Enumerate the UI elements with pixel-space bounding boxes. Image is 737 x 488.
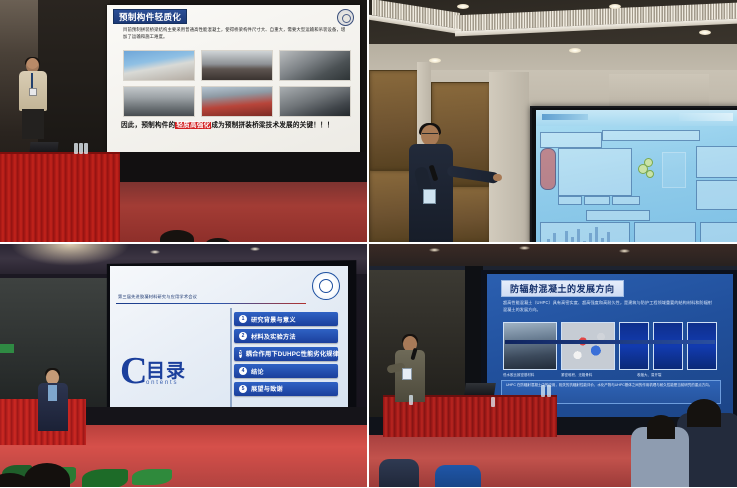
collage-panel-bottom-right: 防辐射混凝土的发展方向 超高性能混凝土（UHPC）具有高密实度、超高强度和高耐久… [369, 244, 737, 487]
slide-header-label [542, 114, 588, 120]
audience-head [687, 399, 721, 427]
speaker-figure [18, 58, 48, 136]
raw-material-source [540, 148, 556, 190]
slide-conclusion-text: 因此，预制构件的轻质高强化成为预制拼装桥梁技术发展的关键！！！ [121, 121, 353, 131]
university-logo [679, 113, 733, 121]
downlight-icon [250, 247, 260, 251]
item-label: 研究背景与意义 [251, 315, 296, 324]
photo-launching-gantry [123, 86, 195, 117]
water-bottle [409, 395, 413, 405]
collage-panel-top-right [369, 0, 737, 242]
list-item: 4 结论 [234, 364, 338, 378]
speaker-figure [391, 336, 437, 402]
collage-panel-bottom-left: 第三届先进胶凝材料研究与应用学术会议 C 目录 ontents 1 研究背景与意… [0, 244, 367, 487]
diagram-label [558, 196, 582, 205]
downlight-icon [457, 4, 469, 9]
photo-bridge-segment-lifting [279, 86, 351, 117]
audience-chair [379, 459, 419, 487]
contents-big-letter: C [120, 354, 147, 388]
item-label: 材料及实验方法 [251, 332, 296, 341]
glasses-icon [422, 133, 438, 137]
contents-list: 1 研究背景与意义 2 材料及实验方法 3 耦合作用下DUHPC性能劣化规律 4… [234, 312, 338, 399]
item-number: 3 [239, 350, 242, 358]
slide-title-bar: 防辐射混凝土的发展方向 [501, 280, 624, 297]
exit-sign-icon [0, 344, 14, 353]
university-seal-icon [337, 9, 354, 26]
downlight-icon [519, 246, 530, 250]
photo-crawler-crane-erection [201, 86, 273, 117]
photo-bridge-girder-transport [123, 50, 195, 81]
speaker-badge [29, 88, 37, 96]
image-ct-scan-3-days [653, 322, 683, 370]
diagram-label [584, 196, 610, 205]
item-label: 耦合作用下DUHPC性能劣化规律 [246, 349, 339, 358]
list-item: 2 材料及实验方法 [234, 329, 338, 343]
speaker-figure [405, 125, 497, 242]
stage-backdrop [110, 152, 367, 182]
molecular-structure-block [558, 148, 632, 196]
caption: 收缩大、易开裂 [637, 372, 697, 377]
water-bottle [491, 397, 495, 407]
speaker-lanyard [31, 73, 33, 89]
list-item: 5 展望与致谢 [234, 382, 338, 396]
schematic-block [662, 152, 686, 188]
speaker-shirt [48, 385, 57, 401]
item-number: 2 [239, 332, 247, 340]
note-text: UHPC 在防辐射混凝土中的应用，相关的抗辐射性能评价、水化产物与UHPC基体之… [506, 383, 716, 389]
downlight-icon [699, 30, 711, 35]
slide-body-text: 超高性能混凝土（UHPC）具有高密实度、超高强度和高耐久性，是建筑与防护工程领域… [503, 300, 715, 313]
image-low-water-binder-matrix [503, 322, 557, 370]
speaker-badge [402, 368, 412, 380]
speaker-hand [493, 174, 502, 181]
slide-title: 防辐射混凝土的发展方向 [510, 282, 615, 295]
green-molecule-cluster [644, 158, 653, 167]
image-ct-scan-7-days [687, 322, 717, 370]
green-molecule-cluster [646, 170, 654, 178]
item-number: 1 [239, 315, 247, 323]
item-number: 4 [239, 367, 247, 375]
presentation-slide-lightweighting: 预制构件轻质化 目前预制拼装桥梁结构主要采用普通高性能混凝土，使得桥梁构件尺寸大… [107, 5, 360, 165]
podium-table-skirt [0, 154, 120, 242]
stage-plant [82, 469, 128, 487]
image-dense-packing-aggregate-model [561, 322, 615, 370]
diagram-title-block [540, 132, 602, 148]
downlight-icon [429, 248, 440, 252]
water-bottle [541, 385, 545, 397]
list-item: 1 研究背景与意义 [234, 312, 338, 326]
laptop-icon [29, 142, 58, 152]
slide-photo-grid [123, 50, 351, 117]
microstructure-sem [696, 146, 737, 178]
peak-curve-plot [634, 222, 696, 242]
downlight-icon [150, 250, 160, 254]
contents-logotype: C 目录 ontents [120, 328, 228, 410]
slide-image-captions: 低水胶比致密基材料 紧密堆积、无粗骨料 收缩大、易开裂 [503, 372, 717, 377]
conclusion-highlight: 轻质高强化 [175, 122, 211, 129]
item-label: 展望与致谢 [251, 384, 283, 393]
mixing-apparatus [696, 180, 737, 210]
conference-header: 第三届先进胶凝材料研究与应用学术会议 [118, 294, 274, 301]
list-item: 3 耦合作用下DUHPC性能劣化规律 [234, 347, 338, 361]
photo-girder-on-trailer [201, 50, 273, 81]
slide-header-band [536, 110, 737, 126]
caption: 紧密堆积、无粗骨料 [561, 372, 623, 377]
contents-english-label: ontents [146, 380, 178, 386]
downlight-icon [619, 249, 630, 253]
contents-vertical-rule [230, 308, 232, 412]
water-bottles [74, 142, 88, 154]
speaker-badge [423, 189, 436, 204]
slide-title-bar: 预制构件轻质化 [113, 9, 187, 24]
collage-panel-top-left: 预制构件轻质化 目前预制拼装桥梁结构主要采用普通高性能混凝土，使得桥梁构件尺寸大… [0, 0, 367, 242]
ceiling-light-glow [10, 244, 130, 266]
speaker-figure [36, 370, 70, 432]
diagram-title-block [602, 130, 700, 141]
bar-chart [540, 222, 630, 242]
university-seal-icon [312, 272, 340, 300]
image-ct-scan-0-days [619, 322, 649, 370]
radial-diagram [700, 222, 737, 242]
slide-diagram-area [536, 126, 737, 242]
downlight-icon [609, 4, 621, 9]
audience-chair [435, 465, 481, 487]
photo-collage: 预制构件轻质化 目前预制拼装桥梁结构主要采用普通高性能混凝土，使得桥梁构件尺寸大… [0, 0, 737, 488]
stage-plant [132, 469, 172, 485]
laptop-icon [464, 383, 496, 395]
slide-image-row [503, 322, 717, 370]
slide-title: 预制构件轻质化 [119, 11, 181, 23]
item-label: 结论 [251, 367, 264, 376]
audience-head [160, 230, 194, 242]
photo-steel-girder-underside [279, 50, 351, 81]
diagram-label [612, 196, 640, 205]
contents-chinese-label: 目录 [146, 356, 186, 383]
downlight-icon [569, 48, 581, 53]
slide-divider [116, 303, 306, 304]
audience-head [647, 415, 675, 439]
projection-screen [530, 106, 737, 242]
speaker-arm-pointing [446, 165, 499, 184]
speaker-trousers [22, 109, 44, 139]
diagram-footer-label [586, 210, 650, 221]
slide-body-text: 目前预制拼装桥梁结构主要采用普通高性能混凝土，使得桥梁构件尺寸大、自重大，需要大… [123, 26, 349, 40]
item-number: 5 [239, 385, 247, 393]
water-bottle [547, 385, 551, 397]
caption: 低水胶比致密基材料 [503, 372, 561, 377]
